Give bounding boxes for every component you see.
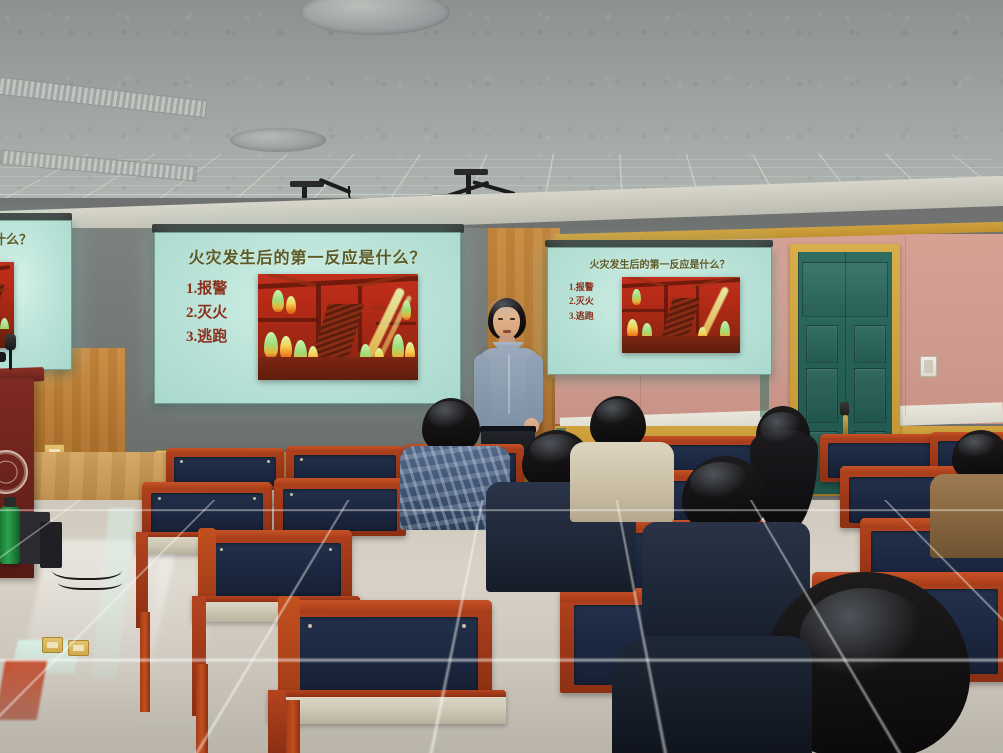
seat-stud [290,493,293,496]
microphone-stand[interactable] [9,348,12,370]
attendee-hair-highlight [690,462,752,502]
seat-upholstery [296,617,478,692]
outlet-slot [73,645,84,651]
projector-ceiling-plate [454,169,488,175]
seat-rail [282,600,492,613]
seat-rail [142,482,272,490]
seat-desk [268,690,506,724]
microphone-stand[interactable] [0,352,6,362]
seat-stud [220,548,223,551]
lecture-hall-photo: EPSON EPSON EPSON [0,0,1003,753]
stage-outlet[interactable] [68,640,89,656]
presenter-hair-highlight [488,298,526,320]
seat-stud [462,624,466,628]
desk-edge [268,690,506,697]
attendee-torso [570,442,674,522]
projector-mount [466,172,471,196]
attendee-brown-coat [944,430,1003,550]
attendee-cream-sweater [566,396,676,516]
desk-side-panel [268,690,286,753]
seat-rail [166,448,284,454]
ceiling-diffuser [230,128,326,152]
attendee-hair-highlight [800,588,930,684]
attendee-hair-highlight [596,399,638,427]
attendee-torso [612,636,812,753]
seat-rail [200,530,352,539]
lectern-emblem [0,450,28,494]
screen-border [547,247,772,375]
seat-row-d [282,600,492,700]
seat-row-b [274,478,406,536]
projection-screen-right[interactable]: 火灾发生后的第一反应是什么？ 1.报警 2.灭火 3.逃跑 [547,247,772,375]
floor-cable [58,572,122,590]
seat-rail [286,446,404,452]
presenter-mouth [503,330,511,333]
attendee-foreground-left-shoulder [612,636,812,753]
seat-rail [820,434,940,440]
presenter-eye [510,318,515,320]
seat-leg [140,612,150,712]
presenter-eye [498,318,503,320]
outlet-slot [47,642,58,648]
seat-rail [274,478,406,486]
light-switch[interactable] [920,356,937,377]
door-panel [854,368,886,423]
seat-stud [267,460,270,463]
microphone[interactable] [5,334,16,350]
seat-row-c [200,530,352,602]
seat-stud [158,497,161,500]
screen-border [154,232,461,404]
light-switch-rocker[interactable] [924,360,932,372]
door-lock[interactable] [840,402,849,415]
door-panel [854,325,886,363]
attendee-torso [930,474,1003,558]
seat-stud [300,458,303,461]
seat-upholstery [211,543,341,596]
attendee-hair-highlight [760,412,804,446]
door-panel [806,325,838,363]
seat-stud [180,460,183,463]
projection-screen-center[interactable]: 火灾发生后的第一反应是什么？ 1.报警 2.灭火 3.逃跑 [154,232,461,404]
stage-outlet[interactable] [42,637,63,653]
seat-stud [253,497,256,500]
attendee-hair-highlight [428,401,472,431]
screen-housing-right [545,240,773,247]
fire-extinguisher[interactable] [0,506,20,564]
seat-stud [329,548,332,551]
seat-leg [196,664,208,753]
presenter-arm-right [526,354,543,426]
seat-upholstery [283,489,397,531]
seat-stud [308,624,312,628]
wall-panel-seam [905,236,906,416]
seat-leg [286,700,300,753]
attendee-hair-highlight [958,434,1000,460]
